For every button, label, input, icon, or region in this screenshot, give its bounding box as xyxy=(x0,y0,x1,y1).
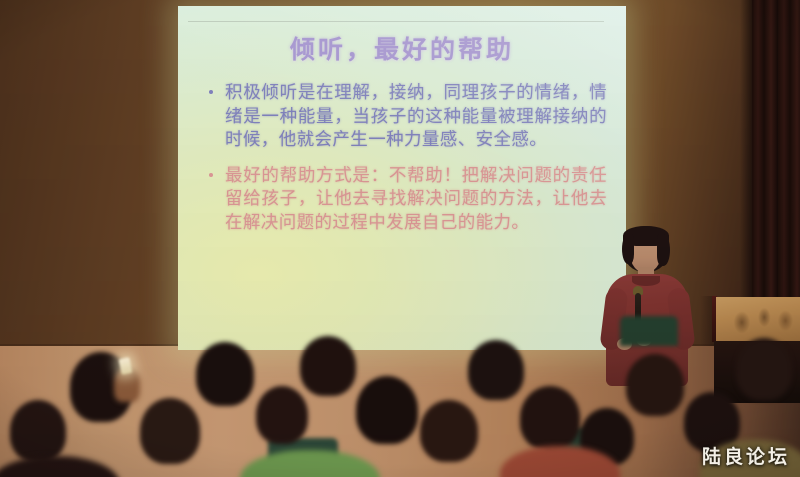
bullet-dot-icon xyxy=(209,173,213,177)
audience-head xyxy=(736,338,792,400)
audience-head xyxy=(10,400,66,462)
slide-bullet-item: 积极倾听是在理解，接纳，同理孩子的情绪，情绪是一种能量，当孩子的这种能量被理解接… xyxy=(203,82,607,153)
audience-head xyxy=(140,398,200,464)
audience-shoulders xyxy=(0,456,120,477)
audience-head xyxy=(468,340,524,400)
phone-screen-icon xyxy=(118,357,132,375)
audience-head xyxy=(256,386,308,444)
presenter-hair-left xyxy=(622,234,634,264)
slide-bullet-list: 积极倾听是在理解，接纳，同理孩子的情绪，情绪是一种能量，当孩子的这种能量被理解接… xyxy=(203,82,607,247)
audience-head xyxy=(356,376,418,444)
slide-bullet-item: 最好的帮助方式是：不帮助！把解决问题的责任留给孩子，让他去寻找解决问题的方法，让… xyxy=(203,165,607,236)
audience-group xyxy=(0,300,800,477)
slide-bullet-text: 积极倾听是在理解，接纳，同理孩子的情绪，情绪是一种能量，当孩子的这种能量被理解接… xyxy=(225,83,607,150)
audience-head xyxy=(196,342,254,406)
audience-head xyxy=(626,354,684,416)
slide-title: 倾听，最好的帮助 xyxy=(178,30,626,66)
audience-head xyxy=(520,386,580,450)
projection-screen: 倾听，最好的帮助 积极倾听是在理解，接纳，同理孩子的情绪，情绪是一种能量，当孩子… xyxy=(178,6,626,350)
forum-watermark: 陆良论坛 xyxy=(702,442,790,469)
presenter-collar xyxy=(632,276,660,286)
audience-shoulders xyxy=(240,450,380,477)
slide-divider-rule xyxy=(188,21,604,22)
audience-head xyxy=(420,400,478,462)
bullet-dot-icon xyxy=(209,90,213,94)
slide-bullet-text: 最好的帮助方式是：不帮助！把解决问题的责任留给孩子，让他去寻找解决问题的方法，让… xyxy=(225,166,607,233)
audience-head xyxy=(300,336,356,396)
presenter-hair-right xyxy=(657,234,670,266)
lecture-photo-scene: 倾听，最好的帮助 积极倾听是在理解，接纳，同理孩子的情绪，情绪是一种能量，当孩子… xyxy=(0,0,800,477)
chair-back xyxy=(620,316,678,346)
